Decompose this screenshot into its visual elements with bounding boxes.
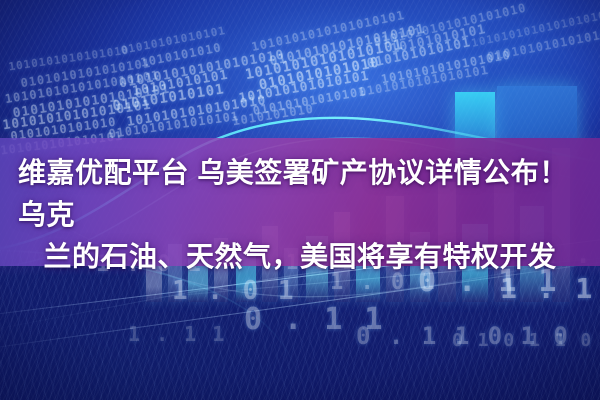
vignette-overlay	[0, 0, 600, 400]
news-banner: 1010101010101010010101010101010110101010…	[0, 0, 600, 400]
